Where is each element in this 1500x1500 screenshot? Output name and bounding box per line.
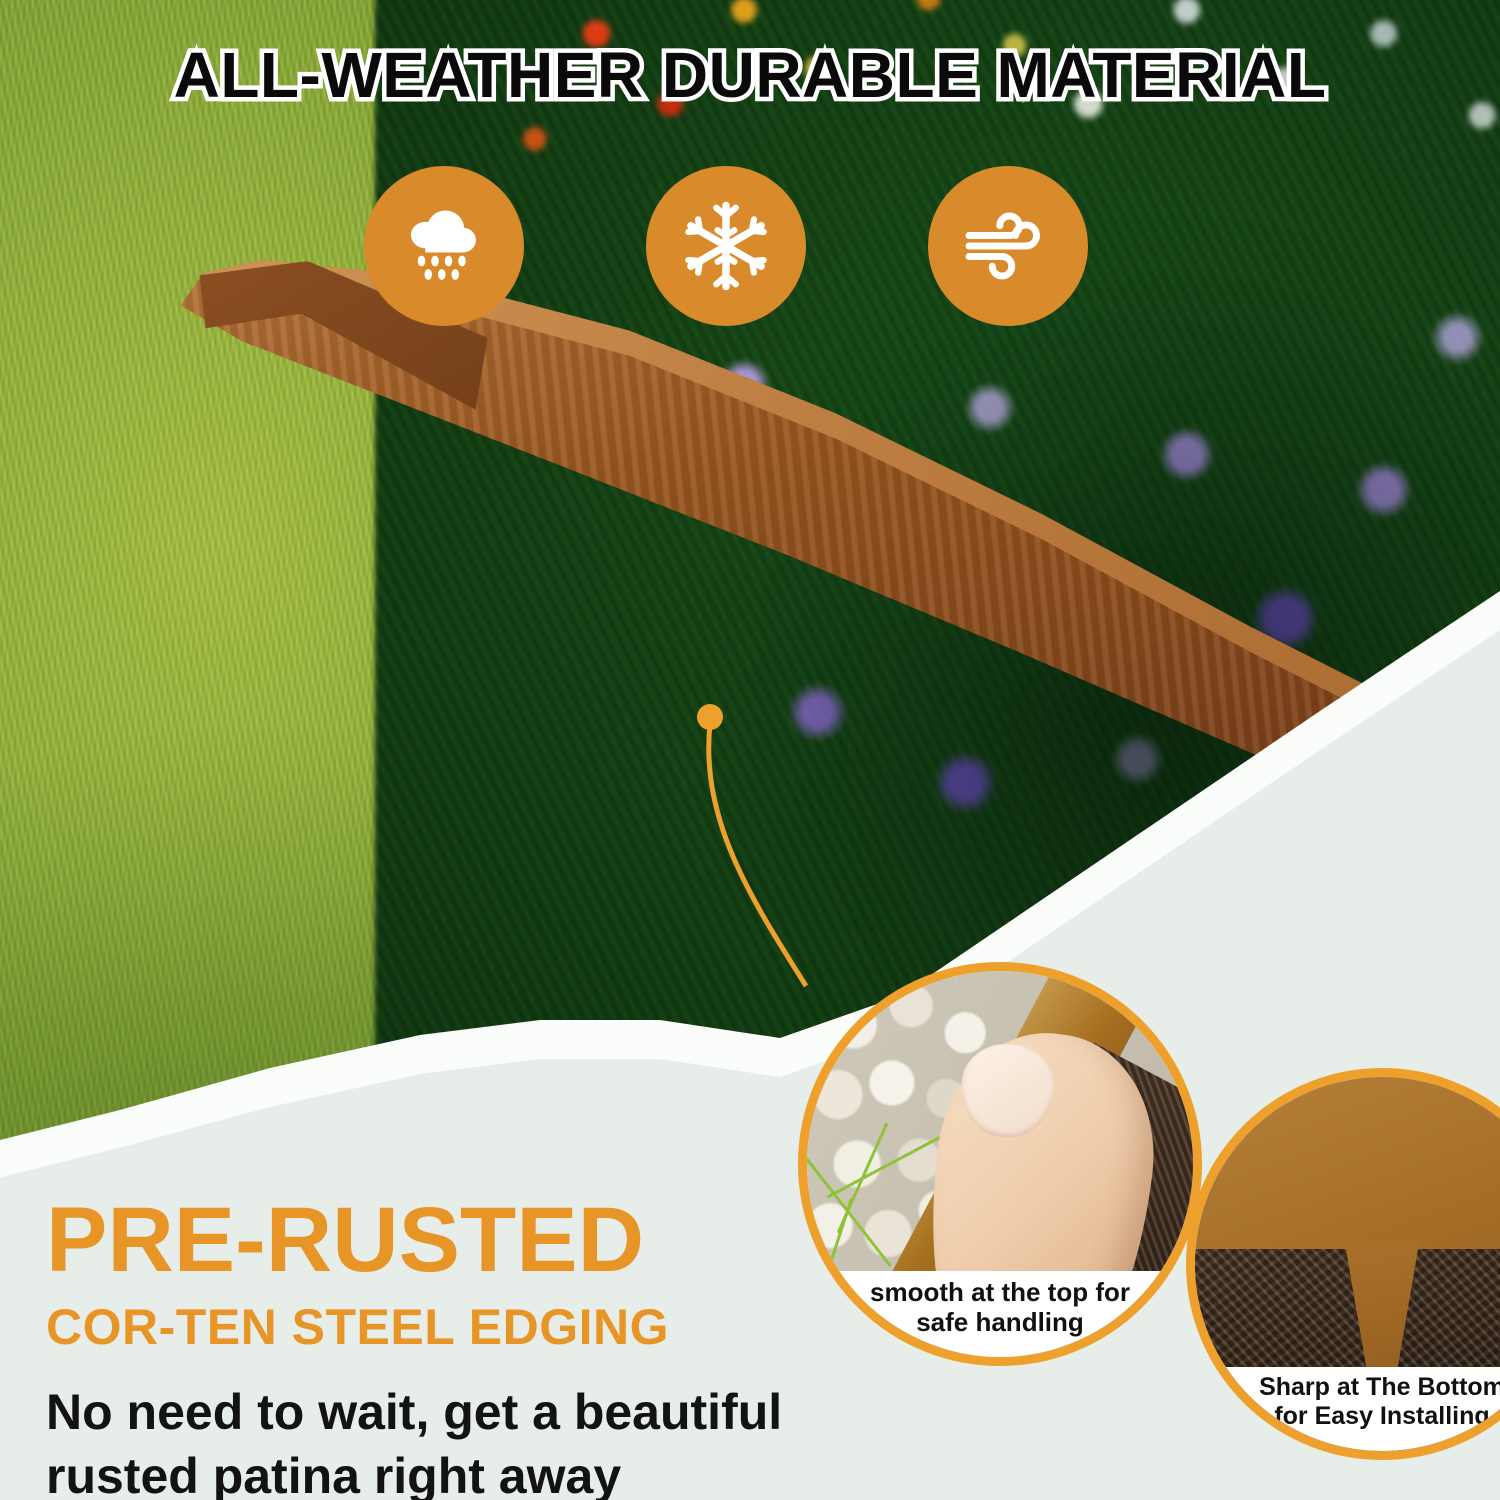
caption-line-1: Sharp at The Bottom	[1205, 1373, 1500, 1402]
page-title: ALL-WEATHER DURABLE MATERIAL	[0, 38, 1500, 112]
snowflake-icon	[678, 198, 774, 294]
callout-smooth-caption: smooth at the top for safe handling	[807, 1271, 1193, 1357]
caption-line-1: smooth at the top for	[817, 1277, 1183, 1307]
weather-badge-group	[364, 166, 1088, 326]
caption-line-2: safe handling	[817, 1307, 1183, 1337]
promo-body-line-2: rusted patina right away	[46, 1444, 836, 1500]
promo-text-block: PRE-RUSTED COR-TEN STEEL EDGING No need …	[46, 1196, 836, 1500]
caption-line-2: for Easy Installing	[1205, 1402, 1500, 1431]
callout-smooth-top[interactable]: smooth at the top for safe handling	[798, 962, 1202, 1366]
badge-snow	[646, 166, 806, 326]
callout-sharp-bottom[interactable]: Sharp at The Bottom for Easy Installing	[1186, 1068, 1500, 1460]
callout-sharp-caption: Sharp at The Bottom for Easy Installing	[1195, 1367, 1500, 1451]
promo-body: No need to wait, get a beautiful rusted …	[46, 1380, 836, 1500]
promo-subtitle: COR-TEN STEEL EDGING	[46, 1298, 836, 1356]
promo-body-line-1: No need to wait, get a beautiful	[46, 1380, 836, 1444]
badge-wind	[928, 166, 1088, 326]
product-infographic: ALL-WEATHER DURABLE MATERIAL	[0, 0, 1500, 1500]
badge-rain	[364, 166, 524, 326]
wind-icon	[960, 198, 1056, 294]
rain-cloud-icon	[396, 198, 492, 294]
promo-title: PRE-RUSTED	[46, 1196, 836, 1284]
